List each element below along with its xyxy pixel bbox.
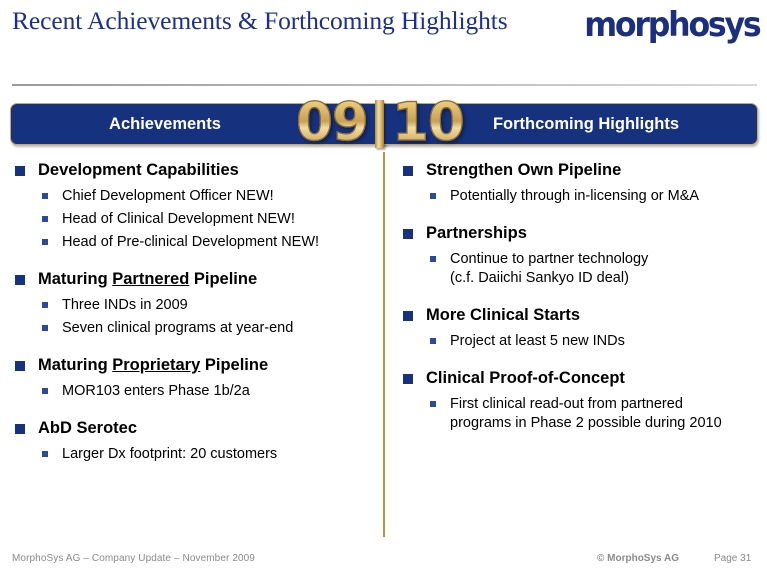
bullet-square-icon — [403, 311, 413, 321]
achievement-sub-item: Head of Pre-clinical Development NEW! — [12, 233, 377, 252]
bullet-small-square-icon — [42, 451, 48, 457]
forthcoming-highlights-column: Strengthen Own PipelinePotentially throu… — [400, 160, 755, 450]
footer-page-number: Page 31 — [714, 552, 751, 566]
highlight-heading: Strengthen Own Pipeline — [400, 160, 755, 181]
achievement-heading: Development Capabilities — [12, 160, 377, 181]
highlight-group: Strengthen Own PipelinePotentially throu… — [400, 160, 755, 206]
highlight-sub-item: Potentially through in-licensing or M&A — [400, 187, 755, 206]
highlight-heading: More Clinical Starts — [400, 305, 755, 326]
highlight-sub-item: Project at least 5 new INDs — [400, 332, 755, 351]
highlight-group: More Clinical StartsProject at least 5 n… — [400, 305, 755, 351]
highlight-sub-item: First clinical read-out from partneredpr… — [400, 395, 755, 433]
achievement-heading-text: Maturing Partnered Pipeline — [38, 270, 257, 288]
highlight-sub-item-text: Project at least 5 new INDs — [450, 333, 625, 349]
achievement-sub-item-text: Three INDs in 2009 — [62, 297, 188, 313]
bullet-small-square-icon — [42, 325, 48, 331]
highlight-heading-text: Partnerships — [426, 224, 527, 242]
highlight-heading: Clinical Proof-of-Concept — [400, 368, 755, 389]
achievement-heading: Maturing Partnered Pipeline — [12, 269, 377, 290]
achievement-heading: AbD Serotec — [12, 418, 377, 439]
bullet-small-square-icon — [430, 338, 436, 344]
achievement-sub-item: Chief Development Officer NEW! — [12, 187, 377, 206]
achievement-heading-emphasis: Partnered — [112, 270, 189, 288]
year-label-09: 09 — [296, 93, 368, 153]
bullet-small-square-icon — [430, 401, 436, 407]
achievement-heading-text: AbD Serotec — [38, 419, 137, 437]
achievement-sub-item-text: Chief Development Officer NEW! — [62, 188, 274, 204]
highlight-sub-item: Continue to partner technology(c.f. Daii… — [400, 250, 755, 288]
bullet-square-icon — [15, 361, 25, 371]
achievement-sub-item-text: MOR103 enters Phase 1b/2a — [62, 383, 250, 399]
slide-header: Recent Achievements & Forthcoming Highli… — [0, 0, 767, 92]
bullet-small-square-icon — [42, 302, 48, 308]
bullet-square-icon — [15, 275, 25, 285]
achievement-heading: Maturing Proprietary Pipeline — [12, 355, 377, 376]
year-separator-bar — [375, 100, 384, 148]
achievement-heading-emphasis: Proprietary — [112, 356, 200, 374]
highlight-heading-text: More Clinical Starts — [426, 306, 580, 324]
highlight-sub-item-text: Potentially through in-licensing or M&A — [450, 188, 699, 204]
achievement-group: AbD SerotecLarger Dx footprint: 20 custo… — [12, 418, 377, 464]
bullet-small-square-icon — [430, 193, 436, 199]
achievement-sub-item-text: Head of Pre-clinical Development NEW! — [62, 234, 319, 250]
achievement-group: Maturing Proprietary PipelineMOR103 ente… — [12, 355, 377, 401]
bullet-square-icon — [403, 229, 413, 239]
slide-footer: MorphoSys AG – Company Update – November… — [0, 548, 767, 571]
bullet-square-icon — [403, 166, 413, 176]
bullet-square-icon — [15, 424, 25, 434]
achievement-sub-item: Three INDs in 2009 — [12, 296, 377, 315]
bullet-small-square-icon — [42, 193, 48, 199]
achievement-group: Development CapabilitiesChief Developmen… — [12, 160, 377, 252]
footer-copyright: © MorphoSys AG — [597, 552, 679, 566]
bullet-small-square-icon — [42, 388, 48, 394]
footer-source-text: MorphoSys AG – Company Update – November… — [12, 552, 255, 566]
bullet-small-square-icon — [430, 256, 436, 262]
highlight-group: Clinical Proof-of-ConceptFirst clinical … — [400, 368, 755, 433]
highlight-group: PartnershipsContinue to partner technolo… — [400, 223, 755, 288]
bullet-square-icon — [15, 166, 25, 176]
achievement-heading-text: Development Capabilities — [38, 161, 239, 179]
achievement-sub-item-text: Seven clinical programs at year-end — [62, 320, 293, 336]
achievement-sub-item: Seven clinical programs at year-end — [12, 319, 377, 338]
bullet-square-icon — [403, 374, 413, 384]
highlight-sub-item-text: First clinical read-out from partneredpr… — [450, 396, 722, 431]
slide: Recent Achievements & Forthcoming Highli… — [0, 0, 767, 571]
column-divider — [383, 152, 385, 537]
highlight-heading: Partnerships — [400, 223, 755, 244]
achievement-sub-item-text: Head of Clinical Development NEW! — [62, 211, 295, 227]
achievement-group: Maturing Partnered PipelineThree INDs in… — [12, 269, 377, 338]
year-label-10: 10 — [392, 93, 464, 153]
bullet-small-square-icon — [42, 216, 48, 222]
achievement-heading-text: Maturing Proprietary Pipeline — [38, 356, 268, 374]
highlight-heading-text: Clinical Proof-of-Concept — [426, 369, 625, 387]
highlight-sub-item-text: Continue to partner technology(c.f. Daii… — [450, 251, 648, 286]
achievement-sub-item: Head of Clinical Development NEW! — [12, 210, 377, 229]
achievement-sub-item: MOR103 enters Phase 1b/2a — [12, 382, 377, 401]
morphosys-logo: morphosys — [584, 5, 759, 45]
achievements-column: Development CapabilitiesChief Developmen… — [12, 160, 377, 481]
achievement-sub-item-text: Larger Dx footprint: 20 customers — [62, 446, 277, 462]
achievement-sub-item: Larger Dx footprint: 20 customers — [12, 445, 377, 464]
title-divider-rule — [12, 84, 757, 86]
banner-label-achievements: Achievements — [10, 103, 320, 145]
section-banner: Achievements Forthcoming Highlights — [10, 103, 758, 145]
page-title: Recent Achievements & Forthcoming Highli… — [12, 4, 532, 37]
bullet-small-square-icon — [42, 239, 48, 245]
highlight-heading-text: Strengthen Own Pipeline — [426, 161, 621, 179]
